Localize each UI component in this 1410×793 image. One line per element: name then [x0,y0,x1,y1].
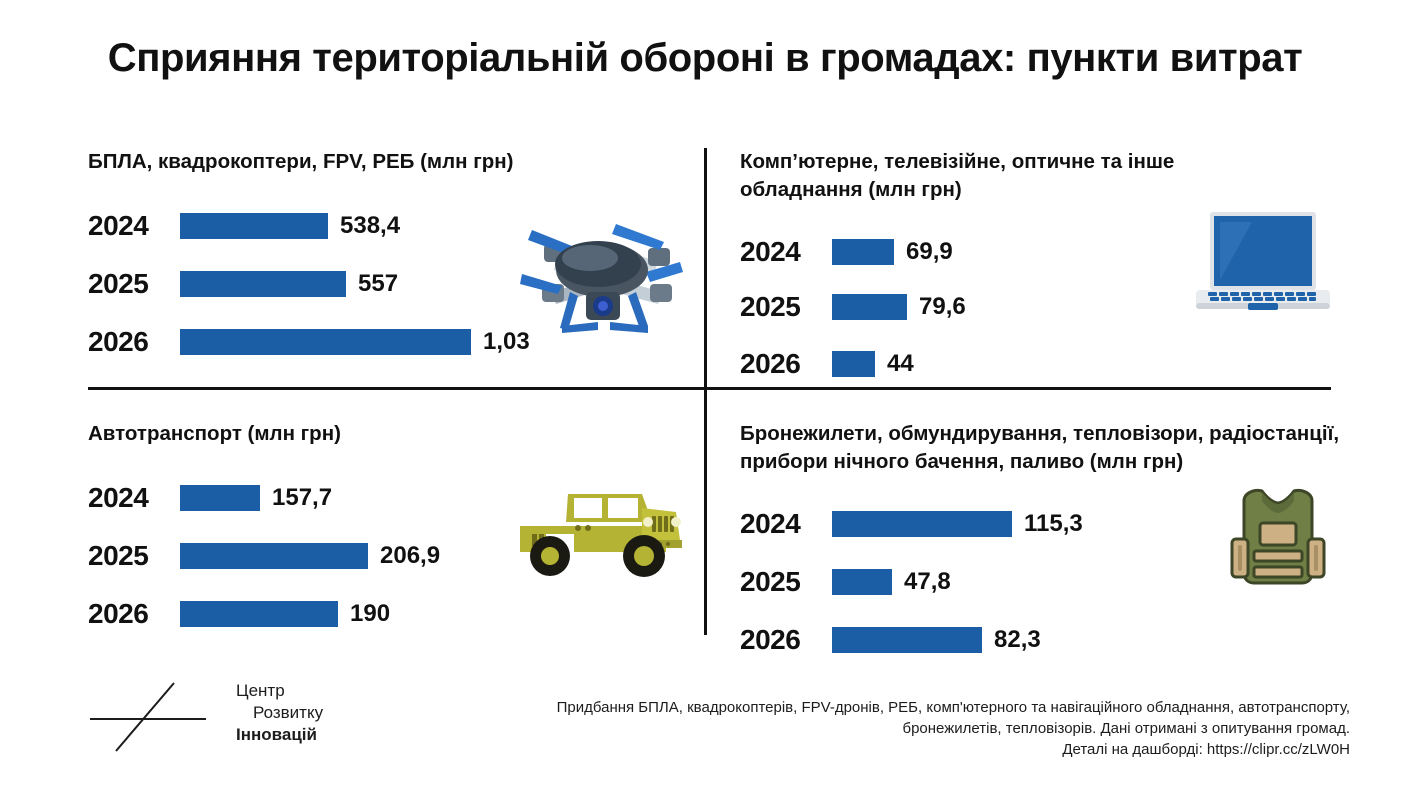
bar-row: 2024 157,7 [88,476,332,520]
bar-fill [832,351,875,377]
bar-value-label: 538,4 [340,212,400,240]
bar-value-label: 115,3 [1024,510,1083,538]
brand-logo: Центр Розвитку Інновацій [88,675,388,765]
laptop-icon [1192,208,1334,319]
bar-row: 2025 47,8 [740,560,951,604]
bar-year-label: 2026 [740,624,832,656]
bar-value-label: 47,8 [904,568,951,596]
bar-year-label: 2024 [88,482,180,514]
bar-value-label: 82,3 [994,626,1041,654]
bar-year-label: 2025 [740,291,832,323]
military-truck-icon [516,478,682,587]
bar-row: 2025 79,6 [740,285,966,329]
bar-value-label: 69,9 [906,238,953,266]
bar-year-label: 2024 [740,236,832,268]
bar-row: 2026 82,3 [740,618,1041,662]
bar-row: 2025 206,9 [88,534,440,578]
panel-computers-heading: Комп’ютерне, телевізійне, оптичне та інш… [740,148,1280,204]
bar-value-label: 206,9 [380,542,440,570]
bar-year-label: 2024 [740,508,832,540]
bar-fill [832,569,892,595]
body-armor-icon [1228,487,1328,596]
bar-year-label: 2026 [88,598,180,630]
bar-year-label: 2025 [88,268,180,300]
bar-row: 2025 557 [88,262,398,306]
bar-row: 2026 190 [88,592,390,636]
bar-fill [180,271,346,297]
bar-year-label: 2025 [740,566,832,598]
logo-mark-icon [88,675,228,761]
bar-year-label: 2024 [88,210,180,242]
panel-vehicles-heading: Автотранспорт (млн грн) [88,420,688,448]
bar-fill [180,213,328,239]
drone-icon [498,200,683,340]
bar-row: 2024 538,4 [88,204,400,248]
footer-note-line-1: Придбання БПЛА, квадрокоптерів, FPV-дрон… [470,697,1350,718]
bar-fill [832,239,894,265]
bar-fill [180,601,338,627]
bar-row: 2026 1,03 [88,320,530,364]
bar-fill [180,329,471,355]
bar-value-label: 44 [887,350,914,378]
bar-year-label: 2026 [740,348,832,380]
bar-fill [180,485,260,511]
footer-note-line-2: бронежилетів, тепловізорів. Дані отриман… [470,718,1350,739]
bar-row: 2026 44 [740,342,914,386]
bar-value-label: 157,7 [272,484,332,512]
bar-row: 2024 69,9 [740,230,953,274]
logo-line-innovation: Інновацій [236,725,317,745]
logo-line-centre: Центр [236,681,285,701]
bar-row: 2024 115,3 [740,502,1083,546]
bar-fill [832,627,982,653]
bar-fill [832,511,1012,537]
bar-fill [832,294,907,320]
panel-drones-heading: БПЛА, квадрокоптери, FPV, РЕБ (млн грн) [88,148,688,176]
footer-note: Придбання БПЛА, квадрокоптерів, FPV-дрон… [470,697,1350,760]
logo-line-development: Розвитку [253,703,323,723]
bar-year-label: 2026 [88,326,180,358]
bar-value-label: 190 [350,600,390,628]
bar-value-label: 79,6 [919,293,966,321]
bar-fill [180,543,368,569]
panel-gear-heading: Бронежилети, обмундирування, тепловізори… [740,420,1360,476]
divider-vertical [704,148,707,635]
page-title: Сприяння територіальній обороні в громад… [0,36,1410,81]
bar-year-label: 2025 [88,540,180,572]
bar-value-label: 557 [358,270,398,298]
footer-note-line-3: Деталі на дашборді: https://clipr.cc/zLW… [470,739,1350,760]
